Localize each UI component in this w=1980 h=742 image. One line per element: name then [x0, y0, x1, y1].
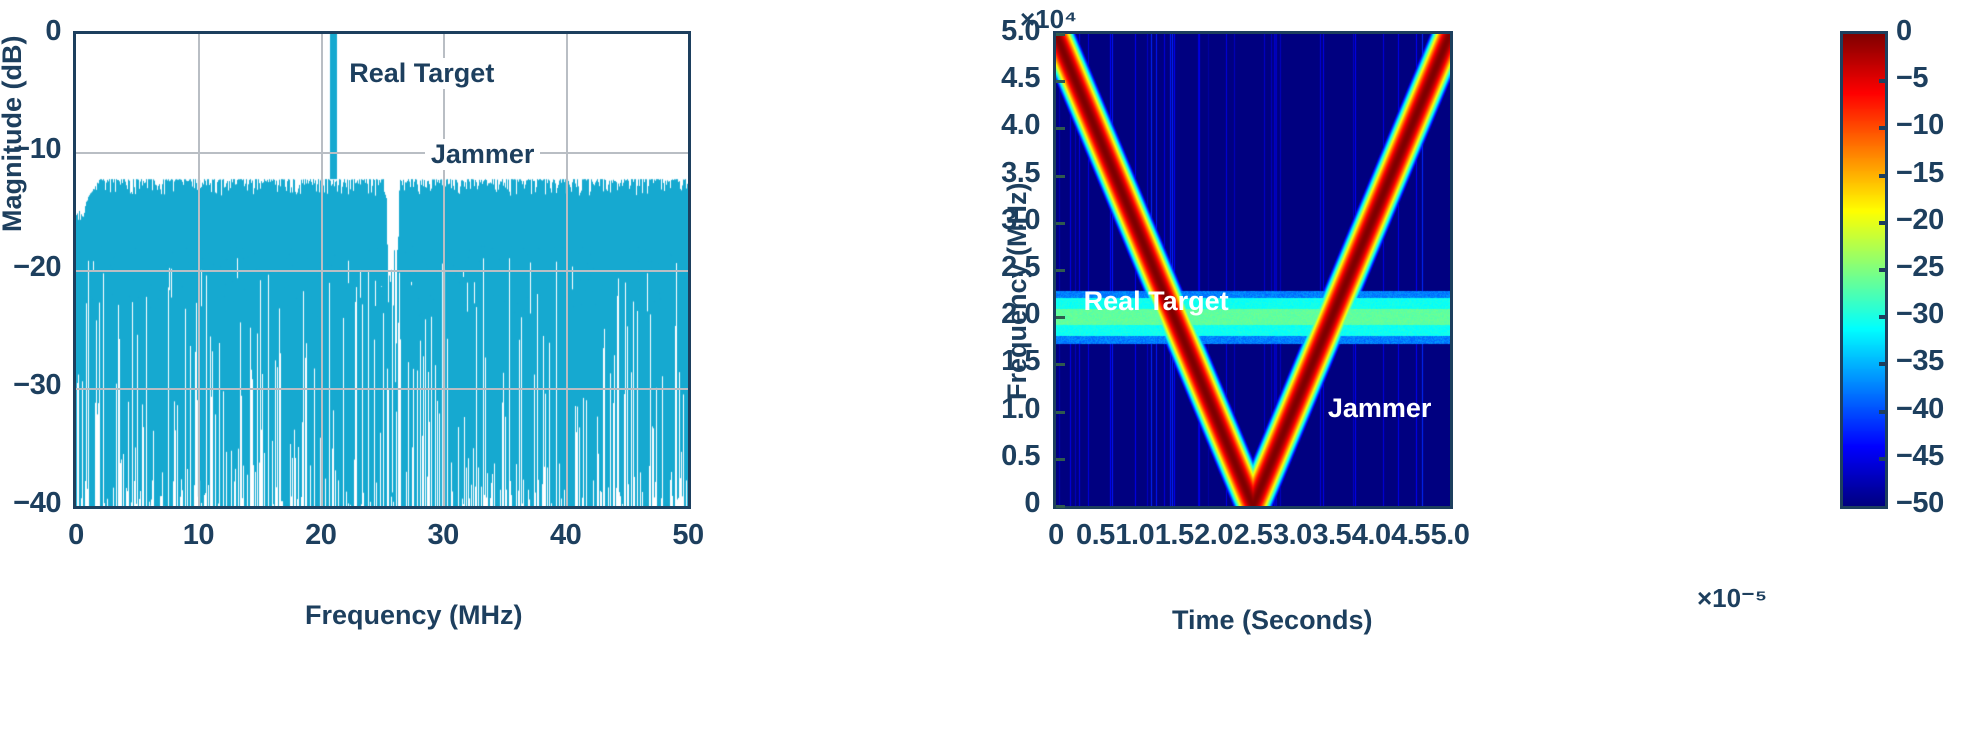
- spectrogram-y-tick: 0: [958, 487, 1040, 520]
- spectrogram-y-tickmark: [1056, 363, 1065, 366]
- spectrum-x-axis-title: Frequency (MHz): [305, 600, 523, 631]
- spectrogram-y-tickmark: [1056, 269, 1065, 272]
- spectrogram-y-tickmark: [1056, 127, 1065, 130]
- colorbar-tick: −25: [1896, 251, 1944, 284]
- colorbar-tickmark: [1879, 362, 1888, 366]
- colorbar-tickmark: [1879, 410, 1888, 414]
- colorbar-tick: −20: [1896, 204, 1944, 237]
- spectrum-y-axis-title: Magnitude (dB): [0, 36, 28, 232]
- spectrum-y-tick: −40: [0, 487, 61, 520]
- spectrogram-y-tickmark: [1056, 316, 1065, 319]
- spectrogram-y-axis-title: Frequency (MHz): [1002, 182, 1033, 400]
- spectrogram-y-tick: 0.5: [958, 440, 1040, 473]
- spectrogram-x-exponent: ×10⁻⁵: [1697, 583, 1767, 614]
- spectrogram-x-axis-title: Time (Seconds): [1172, 605, 1373, 636]
- spectrogram-y-tickmark: [1056, 175, 1065, 178]
- spectrum-x-tick: 30: [419, 519, 467, 552]
- colorbar-tickmark: [1879, 221, 1888, 225]
- spectrum-panel: Real Target Jammer 0−10−20−30−40 0102030…: [0, 0, 760, 742]
- spectrogram-y-tick: 4.0: [958, 109, 1040, 142]
- spectrogram-image-canvas: [1056, 34, 1450, 506]
- annotation-real-target-left: Real Target: [345, 58, 498, 89]
- colorbar-tickmark: [1879, 315, 1888, 319]
- gridline-v: [321, 34, 323, 506]
- spectrum-y-tick: −20: [0, 251, 61, 284]
- spectrogram-plot-area: Real Target Jammer: [1053, 31, 1453, 509]
- annotation-jammer-right: Jammer: [1328, 393, 1432, 424]
- colorbar-tick: −15: [1896, 157, 1944, 190]
- spectrum-x-tick: 0: [52, 519, 100, 552]
- colorbar-tick: −5: [1896, 62, 1928, 95]
- annotation-real-target-right: Real Target: [1084, 286, 1229, 317]
- colorbar-tick: 0: [1896, 15, 1912, 48]
- gridline-h: [76, 152, 688, 154]
- spectrogram-y-tickmark: [1056, 505, 1065, 508]
- spectrogram-y-tickmark: [1056, 222, 1065, 225]
- spectrum-x-tick: 50: [664, 519, 712, 552]
- colorbar-tick: −35: [1896, 345, 1944, 378]
- gridline-v: [443, 34, 445, 506]
- spectrogram-x-tick: 5.0: [1418, 519, 1482, 552]
- gridline-v: [198, 34, 200, 506]
- colorbar-tickmark: [1879, 268, 1888, 272]
- gridline-h: [76, 270, 688, 272]
- colorbar-tickmark: [1879, 79, 1888, 83]
- spectrogram-y-tickmark: [1056, 80, 1065, 83]
- gridline-h: [76, 388, 688, 390]
- spectrogram-y-tickmark: [1056, 458, 1065, 461]
- spectrum-x-tick: 40: [542, 519, 590, 552]
- spectrum-x-tick: 20: [297, 519, 345, 552]
- colorbar-tick: −45: [1896, 440, 1944, 473]
- spectrogram-y-tickmark: [1056, 411, 1065, 414]
- colorbar-tickmark: [1879, 126, 1888, 130]
- figure-root: Real Target Jammer 0−10−20−30−40 0102030…: [0, 0, 1980, 742]
- spectrogram-y-tick: 4.5: [958, 62, 1040, 95]
- spectrum-y-tick: −30: [0, 369, 61, 402]
- annotation-jammer-left: Jammer: [425, 139, 541, 170]
- gridline-v: [566, 34, 568, 506]
- colorbar-tick: −50: [1896, 487, 1944, 520]
- spectrum-plot-area: Real Target Jammer: [73, 31, 691, 509]
- colorbar-tickmark: [1879, 174, 1888, 178]
- colorbar-tick: −40: [1896, 393, 1944, 426]
- colorbar-tickmark: [1879, 457, 1888, 461]
- spectrogram-y-exponent: ×10⁴: [1020, 4, 1077, 35]
- colorbar-tick: −10: [1896, 109, 1944, 142]
- spectrum-x-tick: 10: [174, 519, 222, 552]
- colorbar-tick: −30: [1896, 298, 1944, 331]
